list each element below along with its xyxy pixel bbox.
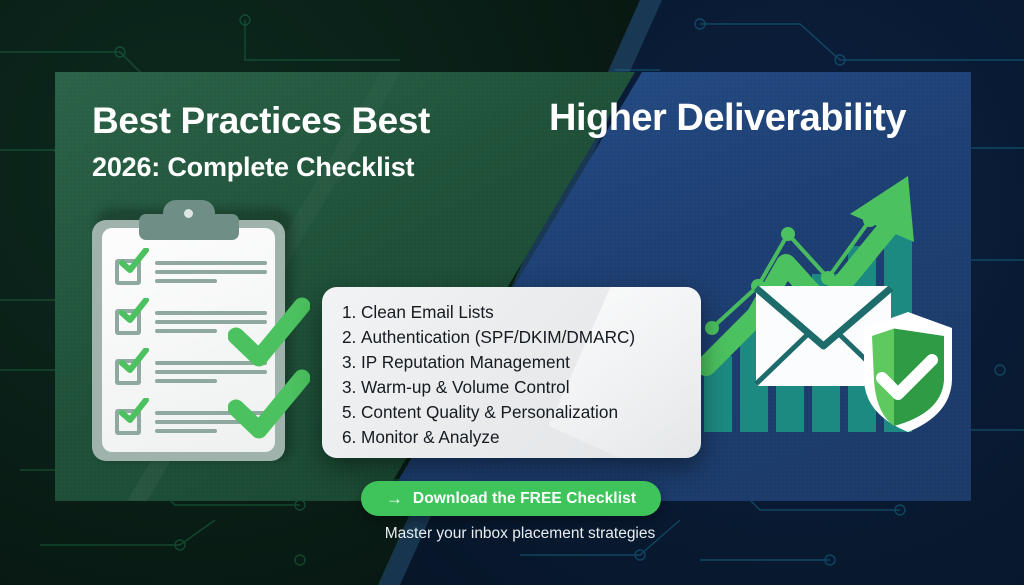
clipboard-clip-hole (181, 206, 196, 221)
list-item-label: Content Quality & Personalization (361, 402, 618, 422)
list-item-label: Authentication (SPF/DKIM/DMARC) (361, 327, 635, 347)
list-item-label: Clean Email Lists (361, 302, 494, 322)
list-item-number: 2. (342, 325, 361, 350)
arrow-right-icon: → (386, 490, 403, 507)
download-checklist-label: Download the FREE Checklist (413, 490, 636, 508)
shield-check-icon (864, 312, 952, 432)
list-item-number: 3. (342, 350, 361, 375)
right-panel-title: Higher Deliverability (549, 97, 989, 140)
list-item: 6.Monitor & Analyze (342, 425, 701, 450)
deliverability-graphic (700, 170, 958, 435)
check-mark-icon (228, 296, 310, 368)
list-item-number: 5. (342, 400, 361, 425)
list-item: 2.Authentication (SPF/DKIM/DMARC) (342, 325, 701, 350)
list-item-number: 3. (342, 375, 361, 400)
list-item-label: Monitor & Analyze (361, 427, 500, 447)
download-checklist-button[interactable]: → Download the FREE Checklist (361, 481, 661, 516)
list-item-label: IP Reputation Management (361, 352, 570, 372)
check-mark-icon (228, 368, 310, 440)
checklist-card: 1.Clean Email Lists 2.Authentication (SP… (322, 287, 701, 458)
banner-canvas: Best Practices Best 2026: Complete Check… (0, 0, 1024, 585)
check-mark-icon (119, 298, 149, 324)
page-subtitle: 2026: Complete Checklist (92, 152, 512, 183)
list-item: 3.IP Reputation Management (342, 350, 701, 375)
clipboard-text-lines (155, 261, 267, 288)
tagline-text: Master your inbox placement strategies (385, 525, 656, 542)
check-mark-icon (119, 248, 149, 274)
page-title: Best Practices Best (92, 101, 492, 140)
check-mark-icon (119, 398, 149, 424)
list-item-number: 6. (342, 425, 361, 450)
list-item: 5.Content Quality & Personalization (342, 400, 701, 425)
list-item-label: Warm-up & Volume Control (361, 377, 570, 397)
list-item: 3.Warm-up & Volume Control (342, 375, 701, 400)
list-item-number: 1. (342, 300, 361, 325)
checklist-list: 1.Clean Email Lists 2.Authentication (SP… (322, 287, 701, 450)
check-mark-icon (119, 348, 149, 374)
clipboard-row (115, 256, 267, 296)
tagline: Master your inbox placement strategies (0, 525, 1024, 543)
list-item: 1.Clean Email Lists (342, 300, 701, 325)
